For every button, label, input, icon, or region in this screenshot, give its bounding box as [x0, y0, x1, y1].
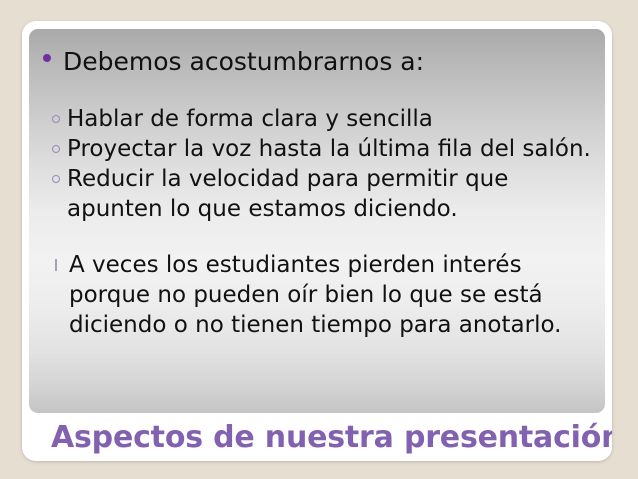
block-spacer	[43, 78, 591, 104]
bullet-text: Debemos acostumbrarnos a:	[63, 45, 591, 78]
slide-content-panel: Debemos acostumbrarnos a: Hablar de form…	[29, 29, 605, 413]
bullet-text: Proyectar la voz hasta la última fila de…	[67, 134, 591, 164]
bullet-list: Debemos acostumbrarnos a: Hablar de form…	[29, 29, 605, 340]
bullet-item-level3: A veces los estudiantes pierden interés …	[43, 250, 591, 340]
bullet-text: Hablar de forma clara y sencilla	[67, 104, 591, 134]
hollow-circle-bullet-icon	[43, 164, 67, 183]
block-spacer	[43, 224, 591, 250]
presentation-slide: Debemos acostumbrarnos a: Hablar de form…	[0, 0, 638, 479]
hollow-circle-bullet-icon	[43, 134, 67, 153]
slide-title: Aspectos de nuestra presentación	[51, 420, 612, 455]
bullet-item-level2: Proyectar la voz hasta la última fila de…	[43, 134, 591, 164]
slide-title-bar: Aspectos de nuestra presentación	[22, 413, 612, 461]
bullet-item-level1: Debemos acostumbrarnos a:	[43, 45, 591, 78]
bullet-text: Reducir la velocidad para permitir que a…	[67, 164, 591, 224]
bullet-text: A veces los estudiantes pierden interés …	[69, 250, 591, 340]
slide-frame: Debemos acostumbrarnos a: Hablar de form…	[22, 21, 612, 461]
bullet-item-level2: Hablar de forma clara y sencilla	[43, 104, 591, 134]
filled-disc-bullet-icon	[43, 45, 63, 62]
tick-bullet-icon	[43, 250, 69, 271]
hollow-circle-bullet-icon	[43, 104, 67, 123]
bullet-item-level2: Reducir la velocidad para permitir que a…	[43, 164, 591, 224]
